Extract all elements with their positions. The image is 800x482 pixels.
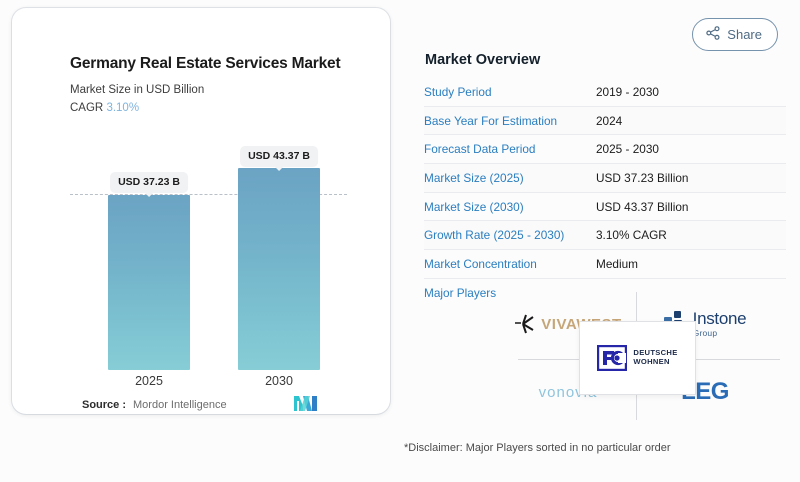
deutsche-wohnen-mark-icon [597,345,627,371]
mordor-intelligence-logo-icon [294,394,320,416]
page-root: Germany Real Estate Services Market Mark… [0,0,800,482]
category-label-2030: 2030 [265,374,293,388]
row-key: Market Concentration [424,257,596,271]
table-row: Market Concentration Medium [424,250,786,279]
logo-card-deutsche-wohnen: DEUTSCHE WOHNEN [580,322,695,394]
share-button[interactable]: Share [692,18,778,51]
vivawest-star-icon [514,314,536,334]
table-row: Forecast Data Period 2025 - 2030 [424,135,786,164]
table-row: Growth Rate (2025 - 2030) 3.10% CAGR [424,221,786,250]
row-key: Growth Rate (2025 - 2030) [424,228,596,242]
row-value: USD 37.23 Billion [596,171,688,185]
disclaimer-text: *Disclaimer: Major Players sorted in no … [404,442,671,454]
bar-value-label-2025: USD 37.23 B [110,172,188,193]
row-key: Base Year For Estimation [424,114,596,128]
share-button-label: Share [727,27,762,42]
major-players-logo-grid: VIVAWEST Instone Group vonovia LEG [500,292,780,420]
chart-card: Germany Real Estate Services Market Mark… [12,8,390,414]
table-row: Market Size (2025) USD 37.23 Billion [424,164,786,193]
table-row: Study Period 2019 - 2030 [424,78,786,107]
table-row: Market Size (2030) USD 43.37 Billion [424,193,786,222]
row-value: USD 43.37 Billion [596,200,688,214]
instone-sub: Group [693,329,747,338]
bar-2025[interactable] [108,195,190,370]
row-value: 2024 [596,114,622,128]
row-key: Market Size (2025) [424,171,596,185]
share-icon [706,26,720,43]
category-label-2025: 2025 [135,374,163,388]
instone-logo-text: Instone Group [693,310,747,338]
source-value: Mordor Intelligence [133,399,227,411]
deutsche-wohnen-logo-text: DEUTSCHE WOHNEN [633,349,677,366]
source-label: Source : [82,399,126,411]
instone-name: Instone [693,310,747,327]
row-value: 3.10% CAGR [596,228,667,242]
dw-line2: WOHNEN [633,358,677,367]
row-key: Study Period [424,85,596,99]
row-value: Medium [596,257,638,271]
bar-2030[interactable] [238,168,320,370]
row-key: Forecast Data Period [424,142,596,156]
row-value: 2025 - 2030 [596,142,659,156]
bar-chart-plot: USD 37.23 B USD 43.37 B 2025 2030 [12,8,390,414]
market-overview-title: Market Overview [425,52,540,68]
source-row: Source : Mordor Intelligence [82,399,227,411]
market-overview-table: Study Period 2019 - 2030 Base Year For E… [424,78,786,308]
table-row: Base Year For Estimation 2024 [424,107,786,136]
row-key: Market Size (2030) [424,200,596,214]
bar-value-label-2030: USD 43.37 B [240,146,318,167]
row-value: 2019 - 2030 [596,85,659,99]
